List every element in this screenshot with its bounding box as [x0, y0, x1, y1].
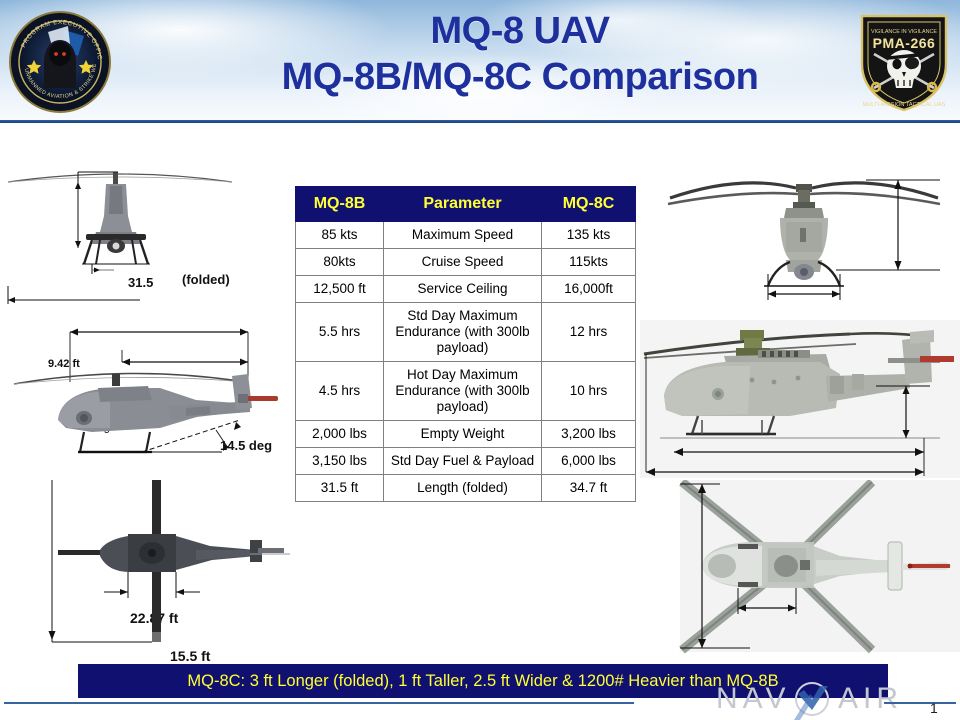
navair-watermark-logo: NAV AIR — [716, 682, 936, 716]
title-line-1: MQ-8 UAV — [180, 8, 860, 54]
navair-swoosh-icon — [788, 680, 836, 720]
cell-parameter: Std Day Fuel & Payload — [384, 448, 542, 475]
cell-mq8c: 6,000 lbs — [542, 448, 636, 475]
title-line-2: MQ-8B/MQ-8C Comparison — [180, 54, 860, 100]
page-number: 1 — [930, 700, 938, 716]
cell-mq8b: 5.5 hrs — [296, 303, 384, 362]
page-title: MQ-8 UAV MQ-8B/MQ-8C Comparison — [180, 8, 860, 100]
cell-mq8b: 4.5 hrs — [296, 362, 384, 421]
svg-text:PMA-266: PMA-266 — [873, 35, 936, 51]
svg-text:MULTI-MISSION TACTICAL UAS: MULTI-MISSION TACTICAL UAS — [863, 102, 946, 108]
peo-seal-logo: PROGRAM EXECUTIVE OFFICE UNMANNED AVIATI… — [8, 10, 112, 114]
navair-nav-text: NAV — [716, 682, 790, 716]
table-row: 5.5 hrs Std Day Maximum Endurance (with … — [296, 303, 636, 362]
mq8b-folded-length-dim: 31.5 — [128, 275, 153, 290]
cell-mq8c: 135 kts — [542, 222, 636, 249]
table-row: 4.5 hrs Hot Day Maximum Endurance (with … — [296, 362, 636, 421]
cell-mq8b: 31.5 ft — [296, 475, 384, 502]
pma-266-shield-logo: VIGILANCE IN VIGILANCE PMA-266 MULTI-MIS… — [852, 6, 956, 116]
cell-mq8c: 12 hrs — [542, 303, 636, 362]
mq8b-folded-note: (folded) — [182, 272, 230, 287]
cell-parameter: Hot Day Maximum Endurance (with 300lb pa… — [384, 362, 542, 421]
mq-8c-front-view-diagram: 10.3 ft 8.7 ft — [650, 160, 960, 320]
table-row: 85 kts Maximum Speed 135 kts — [296, 222, 636, 249]
header-mq8c: MQ-8C — [542, 187, 636, 222]
cell-mq8b: 80kts — [296, 249, 384, 276]
header-parameter: Parameter — [384, 187, 542, 222]
table-row: 2,000 lbs Empty Weight 3,200 lbs — [296, 421, 636, 448]
cell-parameter: Empty Weight — [384, 421, 542, 448]
cell-parameter: Maximum Speed — [384, 222, 542, 249]
cell-mq8b: 85 kts — [296, 222, 384, 249]
cell-parameter: Length (folded) — [384, 475, 542, 502]
table-row: 31.5 ft Length (folded) 34.7 ft — [296, 475, 636, 502]
cell-mq8b: 12,500 ft — [296, 276, 384, 303]
table-row: 80kts Cruise Speed 115kts — [296, 249, 636, 276]
cell-mq8b: 3,150 lbs — [296, 448, 384, 475]
header-mq8b: MQ-8B — [296, 187, 384, 222]
header-divider-rule — [0, 120, 960, 123]
cell-mq8c: 10 hrs — [542, 362, 636, 421]
cell-parameter: Std Day Maximum Endurance (with 300lb pa… — [384, 303, 542, 362]
table-row: 12,500 ft Service Ceiling 16,000ft — [296, 276, 636, 303]
table-row: 3,150 lbs Std Day Fuel & Payload 6,000 l… — [296, 448, 636, 475]
cell-mq8c: 34.7 ft — [542, 475, 636, 502]
footer-rule-left — [4, 702, 634, 704]
mq-8b-top-view-diagram: 27.5 ft 7.58 ft — [0, 480, 290, 660]
cell-parameter: Service Ceiling — [384, 276, 542, 303]
mq-8c-side-view-diagram: (folded) 3.8 ft 34.7 ft 41.4 ft 10NP34-2… — [640, 320, 960, 485]
slide-canvas: PROGRAM EXECUTIVE OFFICE UNMANNED AVIATI… — [0, 0, 960, 720]
summary-banner-text: MQ-8C: 3 ft Longer (folded), 1 ft Taller… — [187, 672, 778, 691]
comparison-table: MQ-8B Parameter MQ-8C 85 kts Maximum Spe… — [295, 186, 636, 502]
navair-air-text: AIR — [838, 682, 903, 716]
mq-8b-side-view-diagram: 22.87 ft 15.5 ft — [0, 300, 290, 485]
cell-parameter: Cruise Speed — [384, 249, 542, 276]
table-header-row: MQ-8B Parameter MQ-8C — [296, 187, 636, 222]
cell-mq8c: 3,200 lbs — [542, 421, 636, 448]
mq-8c-top-view-diagram: 25.4 ft 9.9 ft — [640, 480, 960, 660]
cell-mq8b: 2,000 lbs — [296, 421, 384, 448]
footer-rule-right — [884, 702, 956, 704]
mq8b-tilt-angle-dim: 14.5 deg — [220, 438, 272, 453]
cell-mq8c: 115kts — [542, 249, 636, 276]
cell-mq8c: 16,000ft — [542, 276, 636, 303]
